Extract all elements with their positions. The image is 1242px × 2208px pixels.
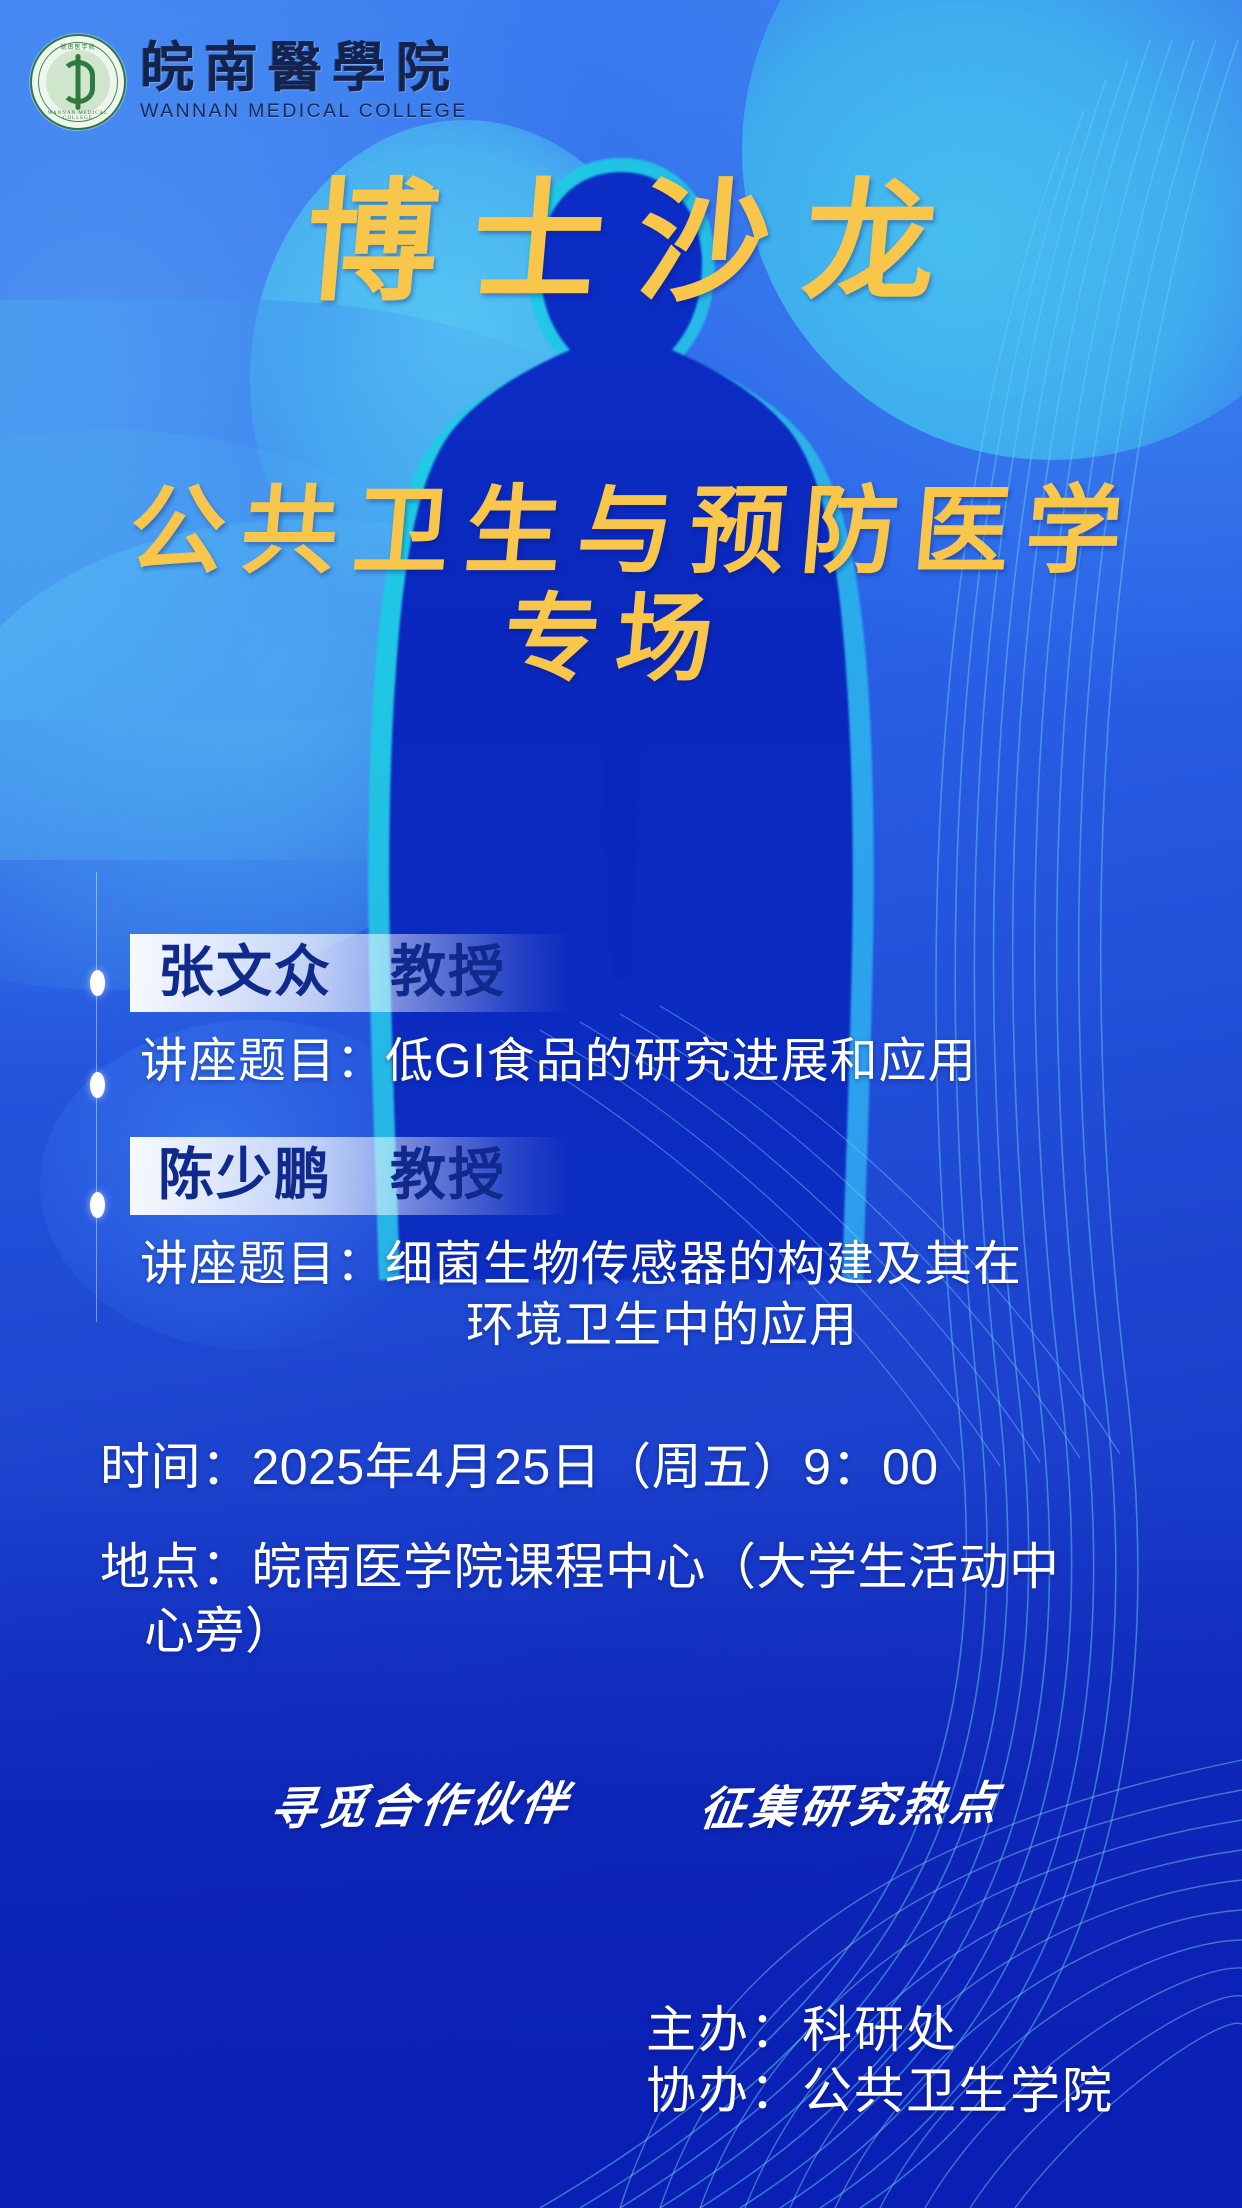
organizer-host: 主办：科研处 [646, 2000, 1114, 2061]
asclepius-snake-icon [61, 60, 95, 104]
program-section: 张文众 教授 讲座题目：低GI食品的研究进展和应用 陈少鹏 教授 讲座题目：细菌… [0, 890, 1242, 1356]
seal-arc-bottom-text: WANNAN MEDICAL COLLEGE [32, 111, 124, 121]
timeline-bullet-3 [90, 1192, 105, 1218]
speaker-name-badge: 张文众 教授 [130, 934, 572, 1012]
seal-arc-top-text: 皖南医学院 [32, 42, 124, 51]
speaker-entry-1: 张文众 教授 讲座题目：低GI食品的研究进展和应用 [62, 934, 1182, 1093]
timeline-bullet-1 [90, 970, 105, 996]
poster-subtitle: 公共卫生与预防医学专场 [0, 478, 1242, 693]
organizer-cohost: 协办：公共卫生学院 [646, 2061, 1114, 2122]
brand-logo-row: 皖南医学院 WANNAN MEDICAL COLLEGE 皖南醫學院 WANNA… [30, 34, 468, 130]
speaker-name-badge: 陈少鹏 教授 [130, 1137, 572, 1215]
brand-name-en: WANNAN MEDICAL COLLEGE [140, 100, 468, 123]
wannan-medical-college-seal-icon: 皖南医学院 WANNAN MEDICAL COLLEGE [30, 34, 126, 130]
speaker-talk-title-line1: 讲座题目：细菌生物传感器的构建及其在 [140, 1235, 1182, 1295]
brand-wordmark: 皖南醫學院 WANNAN MEDICAL COLLEGE [140, 34, 468, 123]
speaker-talk-title-line2: 环境卫生中的应用 [62, 1296, 1182, 1356]
event-meta-section: 时间：2025年4月25日（周五）9：00 地点：皖南医学院课程中心（大学生活动… [0, 1435, 1242, 1663]
slogan-seek-partners: 寻觅合作伙伴 [266, 1767, 576, 1839]
event-place-line2: 心旁） [100, 1599, 1154, 1663]
poster-canvas: 皖南医学院 WANNAN MEDICAL COLLEGE 皖南醫學院 WANNA… [0, 0, 1242, 2208]
brand-name-cn: 皖南醫學院 [140, 40, 468, 97]
slogan-collect-topics: 征集研究热点 [696, 1767, 1006, 1839]
poster-main-title: 博士沙龙 [0, 178, 1242, 310]
organizer-block: 主办：科研处 协办：公共卫生学院 [646, 2000, 1114, 2122]
speaker-talk-title: 讲座题目：低GI食品的研究进展和应用 [140, 1032, 1182, 1092]
event-time: 时间：2025年4月25日（周五）9：00 [100, 1435, 1154, 1499]
speaker-entry-2: 陈少鹏 教授 讲座题目：细菌生物传感器的构建及其在 环境卫生中的应用 [62, 1137, 1182, 1356]
event-place-line1: 地点：皖南医学院课程中心（大学生活动中 [100, 1539, 1060, 1595]
slogan-row: 寻觅合作伙伴 征集研究热点 [0, 1770, 1242, 1836]
event-place: 地点：皖南医学院课程中心（大学生活动中 心旁） [100, 1535, 1154, 1663]
timeline-bullet-2 [90, 1072, 105, 1098]
